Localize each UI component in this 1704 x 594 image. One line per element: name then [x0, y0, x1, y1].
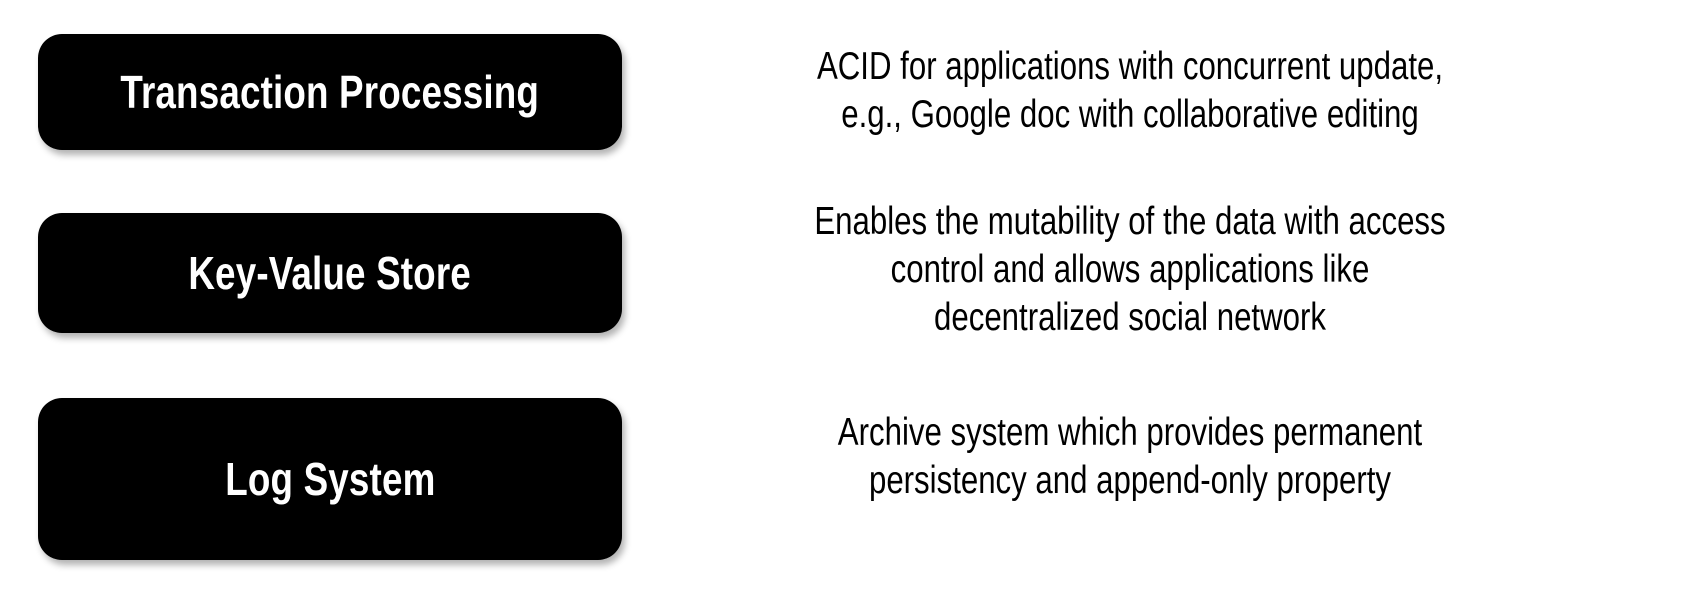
layered-architecture-diagram: Transaction Processing ACID for applicat…: [0, 0, 1704, 594]
description-line: persistency and append-only property: [786, 457, 1474, 505]
layer-box-log-system[interactable]: Log System: [38, 398, 622, 560]
description-line: ACID for applications with concurrent up…: [786, 43, 1474, 91]
layer-description-log-system: Archive system which provides permanent …: [700, 409, 1560, 505]
description-line: control and allows applications like: [786, 246, 1474, 294]
diagram-row-log-system: Log System Archive system which provides…: [0, 380, 1704, 594]
description-line: decentralized social network: [786, 294, 1474, 342]
layer-box-transaction-processing[interactable]: Transaction Processing: [38, 34, 622, 150]
description-line: Enables the mutability of the data with …: [786, 198, 1474, 246]
layer-box-key-value-store[interactable]: Key-Value Store: [38, 213, 622, 333]
description-line: e.g., Google doc with collaborative edit…: [786, 91, 1474, 139]
layer-description-key-value-store: Enables the mutability of the data with …: [700, 198, 1560, 342]
description-line: Archive system which provides permanent: [786, 409, 1474, 457]
diagram-row-key-value-store: Key-Value Store Enables the mutability o…: [0, 190, 1704, 380]
layer-box-label: Key-Value Store: [189, 249, 472, 297]
diagram-row-transaction-processing: Transaction Processing ACID for applicat…: [0, 0, 1704, 190]
layer-box-label: Transaction Processing: [121, 68, 540, 116]
layer-box-label: Log System: [225, 455, 435, 503]
layer-description-transaction-processing: ACID for applications with concurrent up…: [700, 43, 1560, 139]
